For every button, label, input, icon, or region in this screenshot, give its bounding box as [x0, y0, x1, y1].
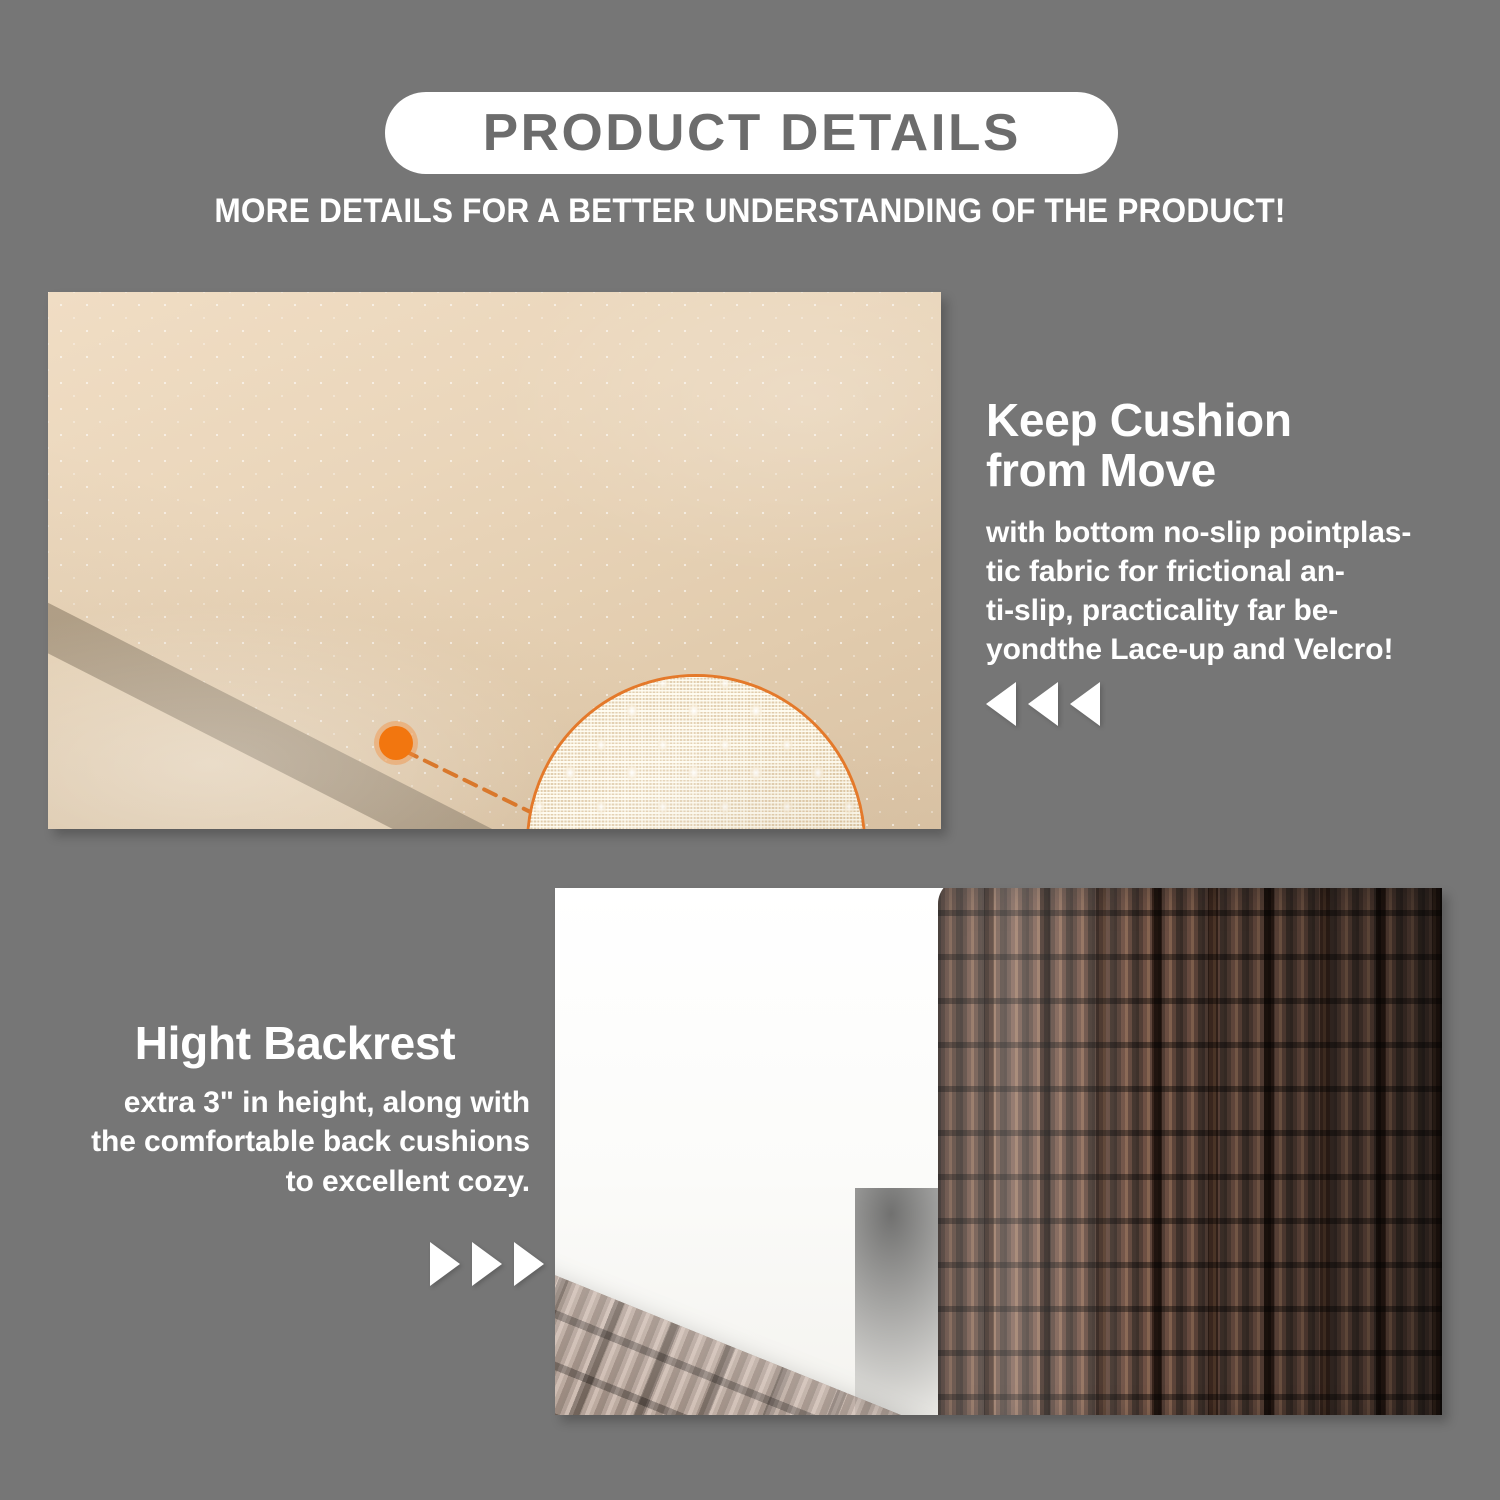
right-arrows-indicator — [430, 1242, 544, 1286]
left-arrows-indicator — [986, 682, 1100, 726]
feature-block-keep-cushion: Keep Cushion from Move with bottom no-sl… — [986, 396, 1456, 669]
feature-body-keep-cushion: with bottom no-slip pointplas- tic fabri… — [986, 513, 1456, 669]
rattan-corner-post — [938, 888, 1442, 1415]
page-title-pill: PRODUCT DETAILS — [385, 92, 1118, 174]
feature-heading-hight-backrest: Hight Backrest — [60, 1018, 530, 1069]
page-title: PRODUCT DETAILS — [482, 107, 1020, 159]
triangle-left-icon — [1028, 682, 1058, 726]
rattan-post-shading — [938, 888, 1442, 1415]
feature-block-hight-backrest: Hight Backrest extra 3" in height, along… — [60, 1018, 530, 1202]
feature-heading-keep-cushion: Keep Cushion from Move — [986, 396, 1456, 495]
triangle-right-icon — [514, 1242, 544, 1286]
triangle-left-icon — [986, 682, 1016, 726]
cushion-underside-photo — [48, 292, 941, 829]
triangle-right-icon — [430, 1242, 460, 1286]
magnifier-shading — [529, 677, 863, 829]
feature-body-hight-backrest: extra 3" in height, along with the comfo… — [60, 1083, 530, 1203]
callout-dot-icon — [379, 726, 413, 760]
page-subtitle: MORE DETAILS FOR A BETTER UNDERSTANDING … — [53, 192, 1448, 231]
triangle-right-icon — [472, 1242, 502, 1286]
magnifier-circle — [526, 674, 866, 829]
triangle-left-icon — [1070, 682, 1100, 726]
rattan-backrest-photo — [555, 888, 1442, 1415]
